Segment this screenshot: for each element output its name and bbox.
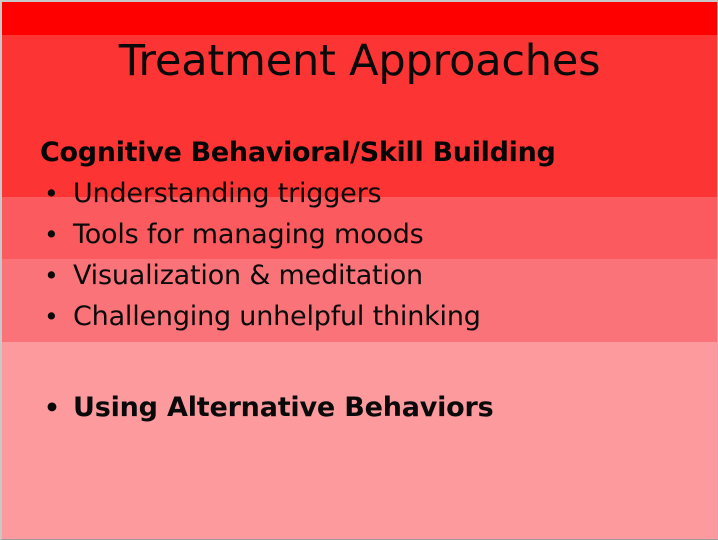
bullet-dot-icon: • (44, 255, 64, 296)
list-item: •Visualization & meditation (40, 255, 693, 296)
bullet-dot-icon: • (44, 296, 64, 337)
list-item-label: Challenging unhelpful thinking (73, 301, 481, 332)
list-item-label: Understanding triggers (73, 178, 381, 209)
bullet-dot-icon: • (44, 387, 64, 428)
slide-body: Cognitive Behavioral/Skill Building •Und… (40, 132, 693, 428)
slide-content: Treatment Approaches Cognitive Behaviora… (2, 2, 717, 539)
list-item: •Using Alternative Behaviors (40, 387, 693, 428)
bullet-dot-icon: • (44, 173, 64, 214)
bullet-list: •Understanding triggers•Tools for managi… (40, 173, 693, 428)
list-item: •Tools for managing moods (40, 214, 693, 255)
list-item: •Challenging unhelpful thinking (40, 296, 693, 337)
list-item-label: Tools for managing moods (73, 219, 424, 250)
list-item: •Understanding triggers (40, 173, 693, 214)
list-item-label: Using Alternative Behaviors (73, 392, 494, 423)
presentation-slide: Treatment Approaches Cognitive Behaviora… (0, 0, 718, 540)
body-heading: Cognitive Behavioral/Skill Building (40, 132, 693, 173)
slide-title: Treatment Approaches (2, 40, 717, 83)
list-item-label: Visualization & meditation (73, 260, 423, 291)
bullet-dot-icon: • (44, 214, 64, 255)
